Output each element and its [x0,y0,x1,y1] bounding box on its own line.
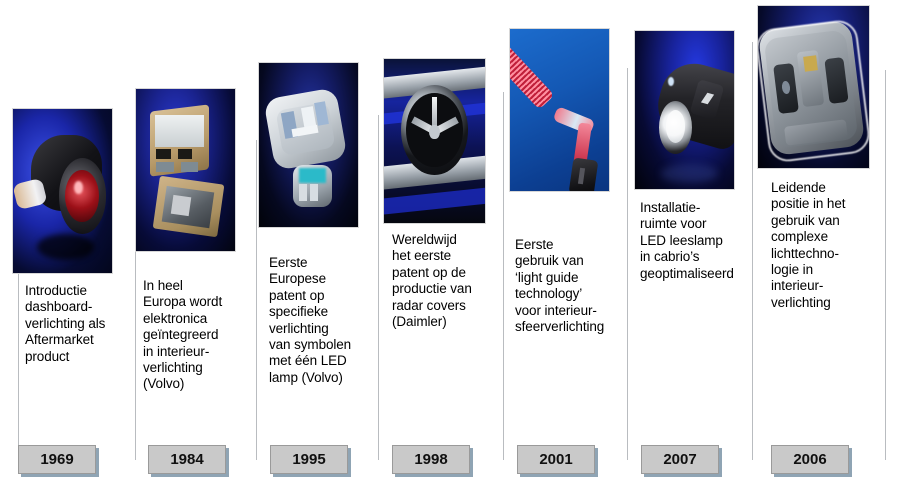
milestone-caption: Eerste Europese patent op specifieke ver… [269,255,381,386]
photo-overhead-console-led [258,62,359,228]
milestone-year-plate: 2007 [641,445,719,474]
milestone-caption: In heel Europa wordt elektronica geïnteg… [143,278,255,393]
photo-interior-light-module [135,88,236,252]
milestone-caption: Leidende positie in het gebruik van comp… [771,180,889,311]
photo-dashboard-lamp [12,108,113,274]
milestone-column-2001: Eerste gebruik van ‘light guide technolo… [503,0,627,488]
milestone-caption: Eerste gebruik van ‘light guide technolo… [515,237,631,335]
milestone-column-1998: Wereldwijd het eerste patent op de produ… [378,0,503,488]
milestone-year-plate: 2001 [517,445,595,474]
milestone-column-1969: Introductie dashboard- verlichting als A… [0,0,135,488]
milestone-column-2006: Leidende positie in het gebruik van comp… [752,0,900,488]
photo-mercedes-star-grille [383,58,486,224]
milestone-caption: Introductie dashboard- verlichting als A… [25,283,133,365]
milestone-year-plate: 1998 [392,445,470,474]
timeline-figure: Introductie dashboard- verlichting als A… [0,0,900,488]
milestone-year-plate: 1984 [148,445,226,474]
milestone-column-2007: Installatie- ruimte voor LED leeslamp in… [627,0,752,488]
milestone-year-plate: 1969 [18,445,96,474]
milestone-year-plate: 1995 [270,445,348,474]
milestone-column-1984: In heel Europa wordt elektronica geïnteg… [135,0,256,488]
milestone-caption: Installatie- ruimte voor LED leeslamp in… [640,200,758,282]
photo-complex-overhead-console [757,5,870,169]
milestone-year-plate: 2006 [771,445,849,474]
milestone-column-1995: Eerste Europese patent op specifieke ver… [256,0,378,488]
photo-led-reading-lamp [634,30,735,190]
photo-light-guide-fibre [509,28,610,192]
milestone-caption: Wereldwijd het eerste patent op de produ… [392,232,506,330]
